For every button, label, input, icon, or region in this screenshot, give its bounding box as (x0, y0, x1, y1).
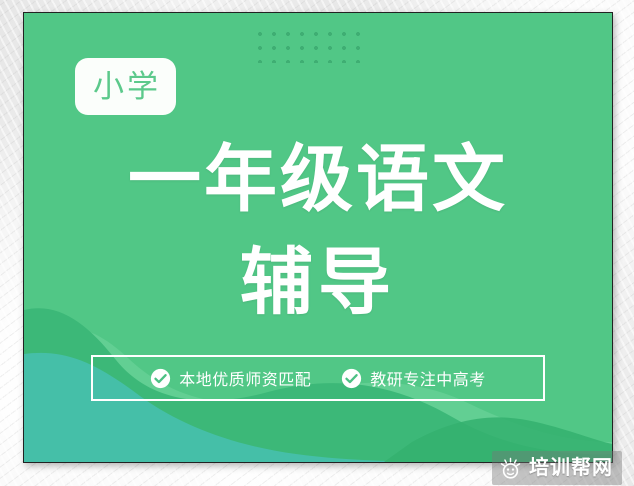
feature-bar: 本地优质师资匹配 教研专注中高考 (91, 355, 545, 401)
poster-title-line-1: 一年级语文 (24, 143, 612, 216)
feature-label-1: 本地优质师资匹配 (179, 366, 311, 390)
watermark-label: 培训帮网 (529, 458, 613, 478)
feature-label-2: 教研专注中高考 (370, 366, 486, 390)
feature-item-2: 教研专注中高考 (341, 366, 486, 390)
grade-badge: 小学 (75, 58, 176, 115)
site-watermark: 培训帮网 (492, 451, 622, 485)
dot-grid-decoration (251, 23, 363, 63)
check-circle-icon (150, 368, 171, 389)
grade-badge-label: 小学 (90, 71, 161, 102)
smiley-sun-icon (499, 457, 522, 480)
page-canvas: 小学 一年级语文 辅导 本地优质师资匹配 教研专注中高考 (0, 0, 634, 486)
poster-card: 小学 一年级语文 辅导 本地优质师资匹配 教研专注中高考 (23, 12, 613, 463)
feature-item-1: 本地优质师资匹配 (150, 366, 311, 390)
poster-title-line-2: 辅导 (24, 246, 612, 319)
check-circle-icon (341, 368, 362, 389)
